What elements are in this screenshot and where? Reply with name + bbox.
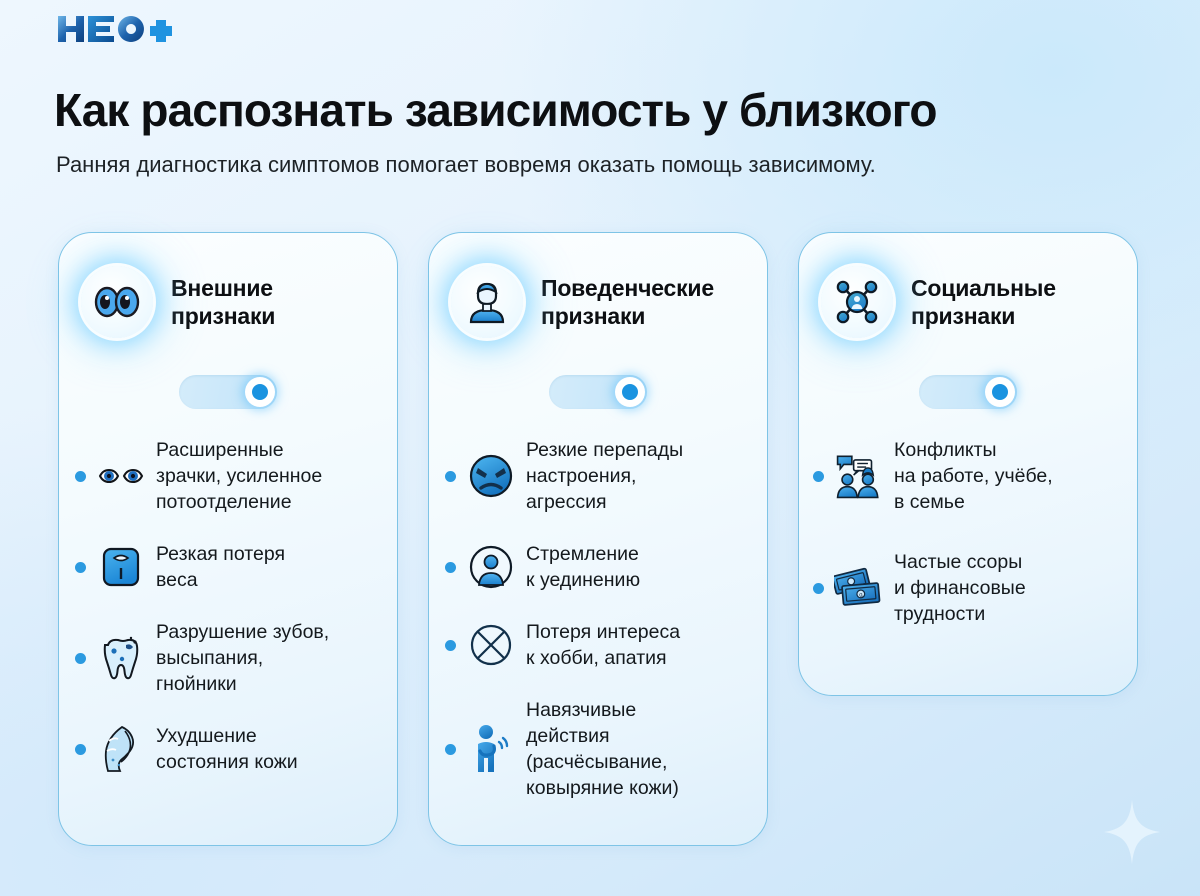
toggle-wrap — [59, 345, 397, 415]
list-item-text: Резкие перепады настроения, агрессия — [526, 437, 683, 515]
list-item: Стремление к уединению — [445, 541, 747, 593]
card-title: Внешние признаки — [171, 274, 275, 330]
bullet-icon — [445, 744, 456, 755]
weight-scale-icon — [96, 542, 146, 592]
page-subtitle: Ранняя диагностика симптомов помогает во… — [56, 148, 956, 181]
card-toggle-external[interactable] — [179, 375, 277, 409]
card-header: Поведенческие признаки — [429, 233, 767, 345]
list-item-text: Навязчивые действия (расчёсывание, ковыр… — [526, 697, 679, 801]
card-social-signs: Социальные признаки — [798, 232, 1138, 696]
list-item-text: Ухудшение состояния кожи — [156, 723, 298, 775]
list-item: Расширенные зрачки, усиленное потоотделе… — [75, 437, 377, 515]
bullet-icon — [75, 562, 86, 573]
eyes-dilated-pupils-icon — [96, 451, 146, 501]
bullet-icon — [75, 471, 86, 482]
person-scratching-icon — [466, 724, 516, 774]
list-item-text: Стремление к уединению — [526, 541, 640, 593]
toggle-knob[interactable] — [615, 377, 645, 407]
bullet-icon — [75, 653, 86, 664]
signs-list: Резкие перепады настроения, агрессия — [429, 415, 767, 801]
list-item: Резкие перепады настроения, агрессия — [445, 437, 747, 515]
list-item: Ухудшение состояния кожи — [75, 723, 377, 775]
card-toggle-social[interactable] — [919, 375, 1017, 409]
svg-text:g: g — [859, 592, 863, 598]
eyes-icon — [81, 266, 153, 338]
infographic-page: Как распознать зависимость у близкого Ра… — [0, 0, 1200, 896]
brand-logo — [56, 14, 186, 44]
person-avatar-icon — [451, 266, 523, 338]
list-item-text: Расширенные зрачки, усиленное потоотделе… — [156, 437, 322, 515]
neo-plus-logo-icon — [56, 14, 186, 44]
card-toggle-behavioral[interactable] — [549, 375, 647, 409]
banknotes-icon: g — [834, 563, 884, 613]
angry-face-icon — [466, 451, 516, 501]
list-item: Конфликты на работе, учёбе, в семье — [813, 437, 1117, 515]
toggle-wrap — [799, 345, 1137, 415]
cards-row: Внешние признаки — [58, 232, 1148, 846]
list-item-text: Частые ссоры и финансовые трудности — [894, 549, 1026, 627]
face-skin-icon — [96, 724, 146, 774]
card-behavioral-signs: Поведенческие признаки — [428, 232, 768, 846]
network-nodes-icon — [821, 266, 893, 338]
toggle-wrap — [429, 345, 767, 415]
list-item-text: Потеря интереса к хобби, апатия — [526, 619, 680, 671]
bullet-icon — [445, 640, 456, 651]
list-item-text: Резкая потеря веса — [156, 541, 285, 593]
tooth-decay-icon — [96, 633, 146, 683]
list-item: g Частые ссоры и финансовые трудности — [813, 549, 1117, 627]
four-point-star-icon — [1104, 800, 1160, 864]
card-title: Поведенческие признаки — [541, 274, 714, 330]
toggle-knob[interactable] — [985, 377, 1015, 407]
bullet-icon — [445, 471, 456, 482]
page-title: Как распознать зависимость у близкого — [54, 83, 1164, 137]
bullet-icon — [813, 583, 824, 594]
list-item: Потеря интереса к хобби, апатия — [445, 619, 747, 671]
crossed-circle-icon — [466, 620, 516, 670]
bullet-icon — [445, 562, 456, 573]
card-title: Социальные признаки — [911, 274, 1056, 330]
list-item: Резкая потеря веса — [75, 541, 377, 593]
signs-list: Конфликты на работе, учёбе, в семье — [799, 415, 1137, 627]
bullet-icon — [813, 471, 824, 482]
signs-list: Расширенные зрачки, усиленное потоотделе… — [59, 415, 397, 775]
bullet-icon — [75, 744, 86, 755]
list-item: Разрушение зубов, высыпания, гнойники — [75, 619, 377, 697]
list-item-text: Конфликты на работе, учёбе, в семье — [894, 437, 1053, 515]
card-header: Внешние признаки — [59, 233, 397, 345]
card-header: Социальные признаки — [799, 233, 1137, 345]
people-conflict-icon — [834, 451, 884, 501]
card-external-signs: Внешние признаки — [58, 232, 398, 846]
person-circle-icon — [466, 542, 516, 592]
toggle-knob[interactable] — [245, 377, 275, 407]
list-item-text: Разрушение зубов, высыпания, гнойники — [156, 619, 329, 697]
list-item: Навязчивые действия (расчёсывание, ковыр… — [445, 697, 747, 801]
